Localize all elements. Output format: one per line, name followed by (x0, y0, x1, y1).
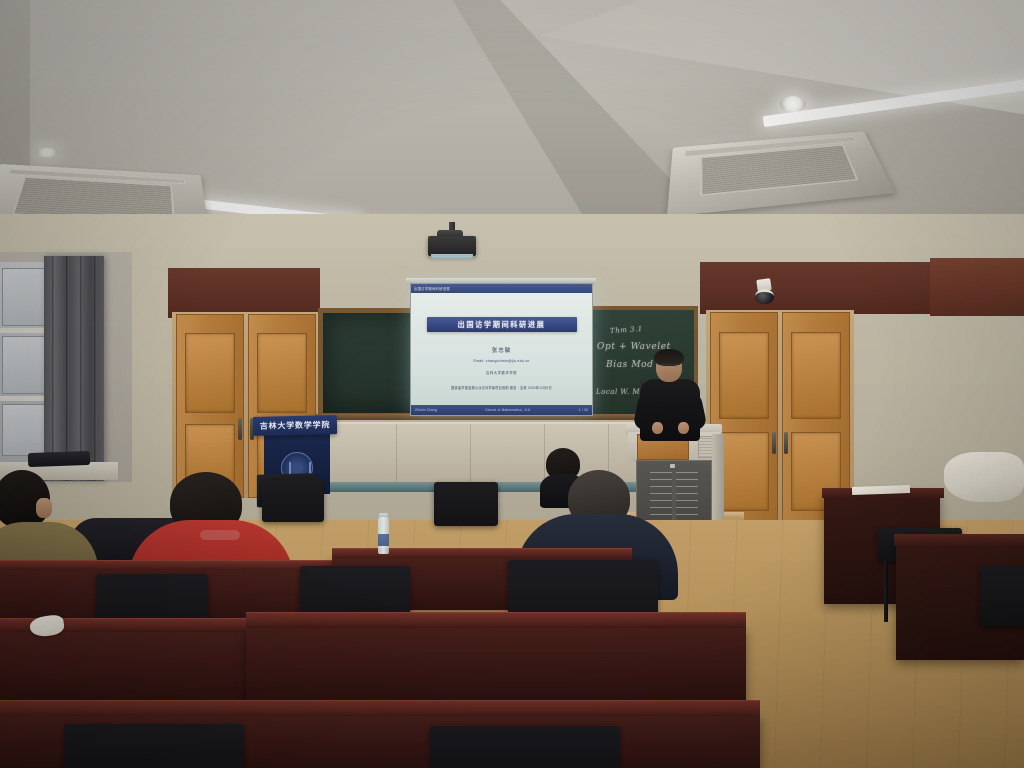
slide-topbar: 出国访学期间科研进展 (411, 284, 592, 293)
downlight-4 (780, 96, 806, 112)
wall-wood-band-left (168, 268, 320, 318)
slide-author: 张志敏 (492, 346, 512, 354)
projection-screen: 出国访学期间科研进展 出国访学期间科研进展 张志敏 Email: zhangzh… (410, 283, 593, 416)
slide-meta: 国家留学基金委公派访问学者项目资助 报告 · 吉林 2024年12月5日 (451, 385, 552, 390)
slide-footer-right: 1 / 36 (579, 408, 588, 412)
chalk-line-1: Thm 3.1 (610, 325, 643, 335)
lecture-hall-photo: Thm 3.1 Opt + Wavelet Bias Mod Local W. … (0, 0, 1024, 768)
slide-footer-center: School of Mathematics, JLU (485, 408, 530, 412)
slide-title-banner: 出国访学期间科研进展 (427, 317, 577, 332)
wall-wood-band-right (700, 262, 930, 314)
ptz-dome-camera-icon (755, 289, 774, 304)
slide-body: 出国访学期间科研进展 张志敏 Email: zhangzhimin@jlu.ed… (411, 293, 592, 405)
slide-title: 出国访学期间科研进展 (458, 320, 546, 330)
door-handle-right-b[interactable] (784, 432, 788, 454)
projector-lens (431, 254, 473, 259)
wall-wood-band-far-right (930, 258, 1024, 316)
white-cloth-bundle (944, 452, 1024, 502)
slide-footer-left: Zhimin Zhang (415, 408, 437, 412)
windowsill-items (28, 451, 90, 467)
chair-mid-1[interactable] (262, 478, 324, 522)
lectern-indicator (670, 464, 675, 468)
chair-mid-2[interactable] (434, 482, 498, 526)
side-desk-front-top (894, 534, 1024, 546)
podium-sign: 吉林大学数学学院 (253, 415, 337, 436)
desk-row-1b (246, 628, 746, 704)
chair-front-1[interactable] (64, 724, 244, 768)
podium-sign-label: 吉林大学数学学院 (260, 419, 331, 431)
presenter-glasses (658, 364, 680, 369)
door-handle-right-a[interactable] (772, 432, 776, 454)
attendee-2-jacket-logo (200, 530, 240, 540)
downlight-8 (36, 148, 58, 157)
door-handle-left[interactable] (238, 418, 242, 440)
side-chair-leg (884, 560, 888, 622)
desk-row-1 (0, 632, 252, 702)
chair-front-2[interactable] (430, 726, 620, 768)
slide-footer: Zhimin Zhang School of Mathematics, JLU … (411, 405, 592, 415)
presenter-hand-left (652, 422, 663, 434)
slide-email: Email: zhangzhimin@jlu.edu.cn (473, 359, 529, 363)
slide-topbar-label: 出国访学期间科研进展 (414, 286, 450, 291)
window-curtain (44, 256, 104, 481)
ceiling-projector-icon (428, 236, 476, 256)
presenter (634, 352, 708, 444)
side-chair-front[interactable] (980, 566, 1024, 626)
attendee-1-face (36, 498, 52, 518)
slide-affiliation: 吉林大学数学学院 (486, 370, 517, 375)
ceiling-ac-cassette-right (667, 131, 895, 217)
water-bottle-label (378, 534, 389, 546)
presenter-hand-right (678, 422, 689, 434)
